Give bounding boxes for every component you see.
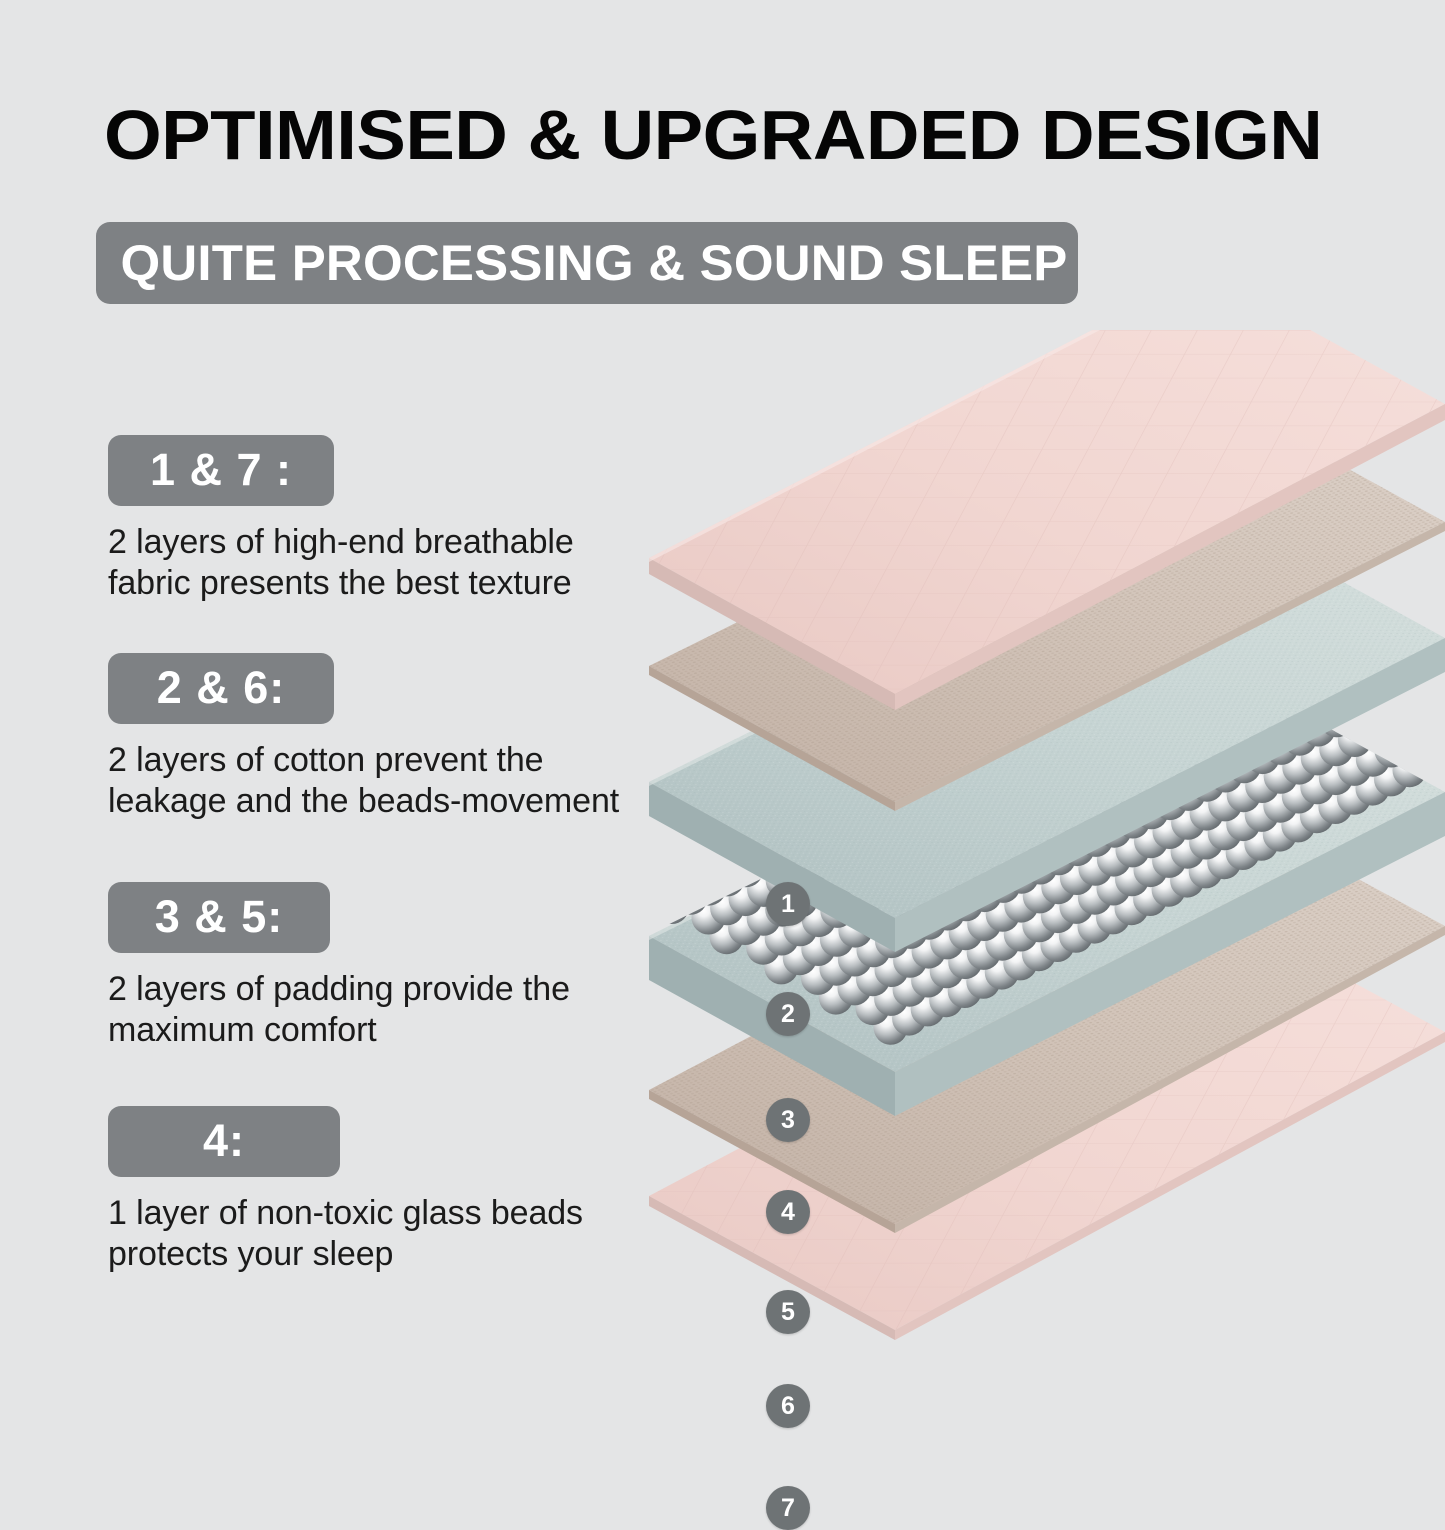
layer-badge-5: 5 [766,1290,810,1334]
layer-badge-3: 3 [766,1098,810,1142]
legend-badge-label-4: 4: [108,1106,340,1177]
subtitle-text: QUITE PROCESSING & SOUND SLEEP [96,236,1067,290]
legend-description-1-7: 2 layers of high-end breathable fabric p… [108,522,638,604]
exploded-layer-diagram: 1 2 3 4 5 6 7 [645,330,1445,1340]
legend-badge-label-2-6: 2 & 6: [108,653,334,724]
layer-badge-2: 2 [766,992,810,1036]
layer-stack-illustration [645,330,1445,1340]
layer-badge-4: 4 [766,1190,810,1234]
legend-description-3-5: 2 layers of padding provide the maximum … [108,969,638,1051]
legend-item-4: 4: 1 layer of non-toxic glass beads prot… [108,1106,648,1275]
legend-badge-label-3-5: 3 & 5: [108,882,330,953]
legend-item-2-6: 2 & 6: 2 layers of cotton prevent the le… [108,653,648,822]
legend-badge-label-1-7: 1 & 7 : [108,435,334,506]
layer-badge-1: 1 [766,882,810,926]
layer-badge-7: 7 [766,1486,810,1530]
legend-item-1-7: 1 & 7 : 2 layers of high-end breathable … [108,435,648,604]
legend-item-3-5: 3 & 5: 2 layers of padding provide the m… [108,882,648,1051]
legend-description-2-6: 2 layers of cotton prevent the leakage a… [108,740,638,822]
layer-badge-6: 6 [766,1384,810,1428]
subtitle-banner: QUITE PROCESSING & SOUND SLEEP [96,222,1078,304]
page-title: OPTIMISED & UPGRADED DESIGN [104,96,1445,174]
legend-description-4: 1 layer of non-toxic glass beads protect… [108,1193,638,1275]
